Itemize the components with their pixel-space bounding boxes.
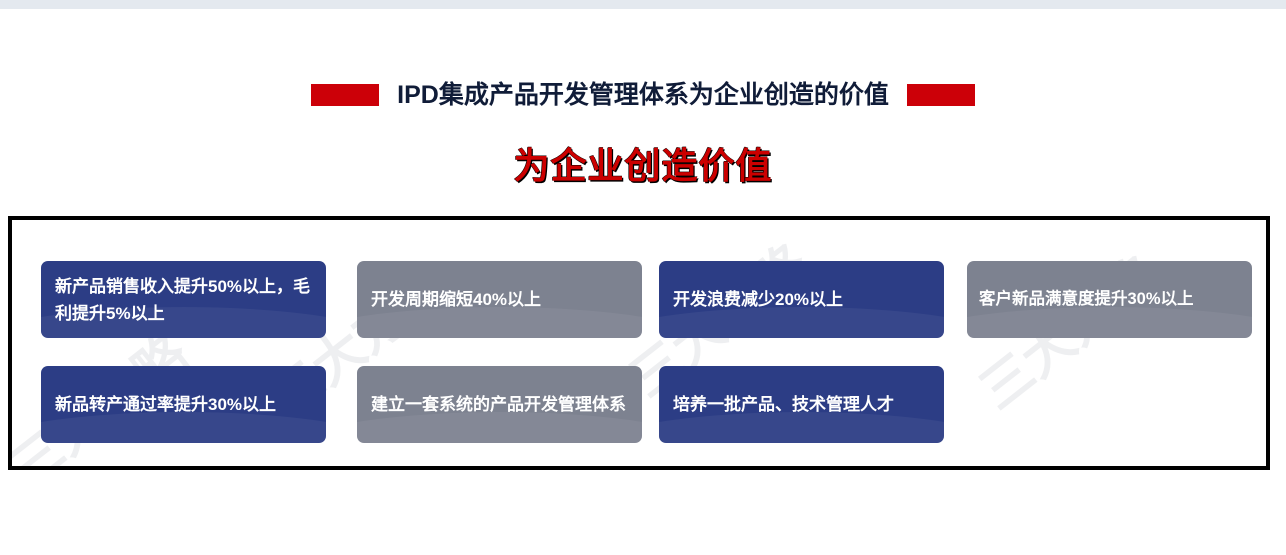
value-card[interactable]: 客户新品满意度提升30%以上 [967,261,1252,338]
value-card-label: 开发周期缩短40%以上 [371,286,541,313]
value-card[interactable]: 培养一批产品、技术管理人才 [659,366,944,443]
value-card-label: 新品转产通过率提升30%以上 [55,391,276,418]
content-panel: 三大方略 三大方略 三大方略 三大方略 新产品销售收入提升50%以上，毛利提升5… [8,216,1270,470]
page-title: IPD集成产品开发管理体系为企业创造的价值 [397,79,889,111]
slide-title-row: IPD集成产品开发管理体系为企业创造的价值 [0,78,1286,112]
value-card[interactable]: 新产品销售收入提升50%以上，毛利提升5%以上 [41,261,326,338]
value-card-label: 客户新品满意度提升30%以上 [979,286,1194,313]
content-panel-background: 三大方略 三大方略 三大方略 三大方略 新产品销售收入提升50%以上，毛利提升5… [12,220,1266,466]
red-accent-bar-right [907,84,975,106]
value-card[interactable]: 新品转产通过率提升30%以上 [41,366,326,443]
top-edge-strip [0,0,1286,9]
value-card-label: 培养一批产品、技术管理人才 [673,391,894,418]
value-card-label: 建立一套系统的产品开发管理体系 [371,391,626,418]
value-card[interactable]: 开发周期缩短40%以上 [357,261,642,338]
slide-subtitle: 为企业创造价值 [0,143,1286,189]
value-card-label: 开发浪费减少20%以上 [673,286,843,313]
value-card-label: 新产品销售收入提升50%以上，毛利提升5%以上 [55,273,312,327]
value-card[interactable]: 开发浪费减少20%以上 [659,261,944,338]
value-card[interactable]: 建立一套系统的产品开发管理体系 [357,366,642,443]
red-accent-bar-left [311,84,379,106]
